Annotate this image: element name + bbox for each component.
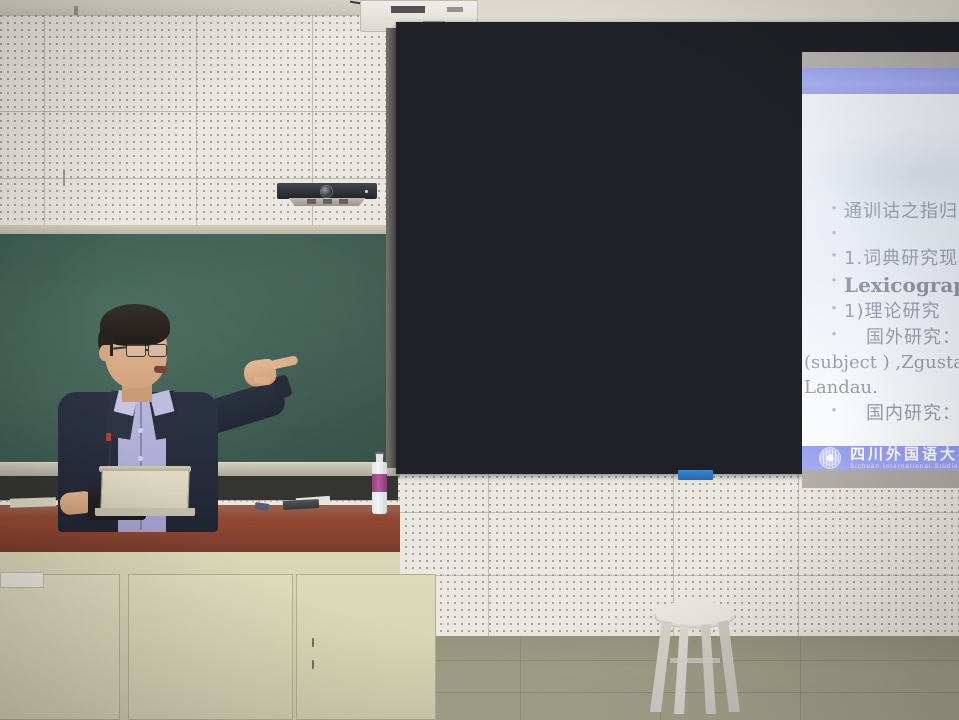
bullet-marker: • [824,247,844,267]
wrapped-line: Landau. [824,376,959,399]
equipment-label-secondary [447,7,463,12]
blue-object-on-ledge [678,470,698,480]
slide-bullet-list: • 通训诂之指归，叙诗人之兴咏 • ——郭璞《尔雅注·序》 • 1.词典研究现状… [824,200,959,427]
bullet-attribution: ——郭璞《尔雅注·序》 [844,225,959,239]
bullet-marker: • [824,300,844,320]
glasses-lens-right [148,344,167,357]
cabinet-door[interactable] [296,574,436,720]
slide-top-blue-band [802,68,959,94]
university-branding-banner: 四川外国语大学 Sichuan International Studies Un… [802,446,959,470]
bullet-text: 1.词典研究现状 [844,247,959,270]
blue-object-on-ledge [697,470,713,480]
bullet-line: • 1.词典研究现状 [824,247,959,270]
lapel-microphone-icon [106,433,111,441]
powerpoint-slide: 词典学简介 • 通训诂之指归，叙诗人之兴咏 • ——郭璞《尔雅注·序》 • 1.… [802,52,959,488]
bullet-text-domestic-research: 国内研究：黄建华、张柏然、章宜华、陈国华 [844,402,959,425]
ear [99,345,110,361]
bullet-text-lexicography: Lexicography [844,272,959,298]
glasses-lens-left [126,344,146,357]
bullet-line: • 1)理论研究 [824,300,959,323]
mouth [154,366,167,374]
camera-vent [339,199,348,204]
camera-vent [323,199,332,204]
cabinet-keyhole [312,638,314,647]
wrapped-line: (subject ) ,Zgusta(1971),Hausmann(1989,a… [824,351,959,374]
index-finger [269,355,298,370]
wrapped-text-line-1: (subject ) ,Zgusta(1971),Hausmann(1989,a… [804,351,959,374]
bullet-line: • 通训诂之指归，叙诗人之兴咏 [824,200,959,223]
bullet-line: • ——郭璞《尔雅注·序》 [824,225,959,245]
lectern-cabinet [0,552,400,720]
bullet-line: • 国内研究：黄建华、张柏然、章宜华、陈国华 [824,402,959,425]
projection-screen[interactable]: 词典学简介 • 通训诂之指归，叙诗人之兴咏 • ——郭璞《尔雅注·序》 • 1.… [802,52,959,488]
bullet-line: • Lexicography [824,272,959,298]
water-bottle [372,452,387,514]
shirt-button [138,428,143,433]
bullet-text: 1)理论研究 [844,300,959,323]
shirt-button [138,456,143,461]
bullet-marker: • [824,272,844,292]
bullet-marker: • [824,225,844,245]
laptop-base [95,508,195,516]
university-logo-icon [820,448,840,468]
bullet-line: • 国外研究：Shcherba(1940,type), Wiegand [824,326,959,349]
bullet-marker: • [824,402,844,422]
lecture-hall-scene: 词典学简介 • 通训诂之指归，叙诗人之兴咏 • ——郭璞《尔雅注·序》 • 1.… [0,0,959,720]
university-name-block: 四川外国语大学 Sichuan International Studies Un… [850,447,959,470]
camera-lens-icon [321,186,332,197]
bullet-marker: • [824,326,844,346]
camera-cable [63,170,65,186]
projection-screen-frame: 词典学简介 • 通训诂之指归，叙诗人之兴咏 • ——郭璞《尔雅注·序》 • 1.… [396,22,959,474]
camera-led-icon [365,190,368,193]
cabinet-keyhole [312,660,314,669]
glasses-bridge [145,349,149,351]
ceiling-strip [0,0,400,16]
university-name-cn: 四川外国语大学 [850,447,959,462]
wall-camera [277,183,377,205]
cabinet-door[interactable] [128,574,293,720]
bullet-marker: • [824,200,844,220]
bottle-label [372,474,387,492]
wrapped-text-line-2: Landau. [804,376,959,399]
camera-vent [307,199,316,204]
desk-label-tag [0,572,44,588]
university-name-en: Sichuan International Studies University [850,464,959,470]
cabinet-door[interactable] [0,574,120,720]
bullet-text-foreign-research: 国外研究：Shcherba(1940,type), Wiegand [844,326,959,349]
slide-top-gray-band [802,52,959,68]
bullet-text: 通训诂之指归，叙诗人之兴咏 [844,200,959,223]
equipment-label-primary [391,6,425,13]
laptop-screen-back[interactable] [100,470,189,512]
slide-bottom-gray-band [802,470,959,488]
plastic-stool [640,600,750,720]
